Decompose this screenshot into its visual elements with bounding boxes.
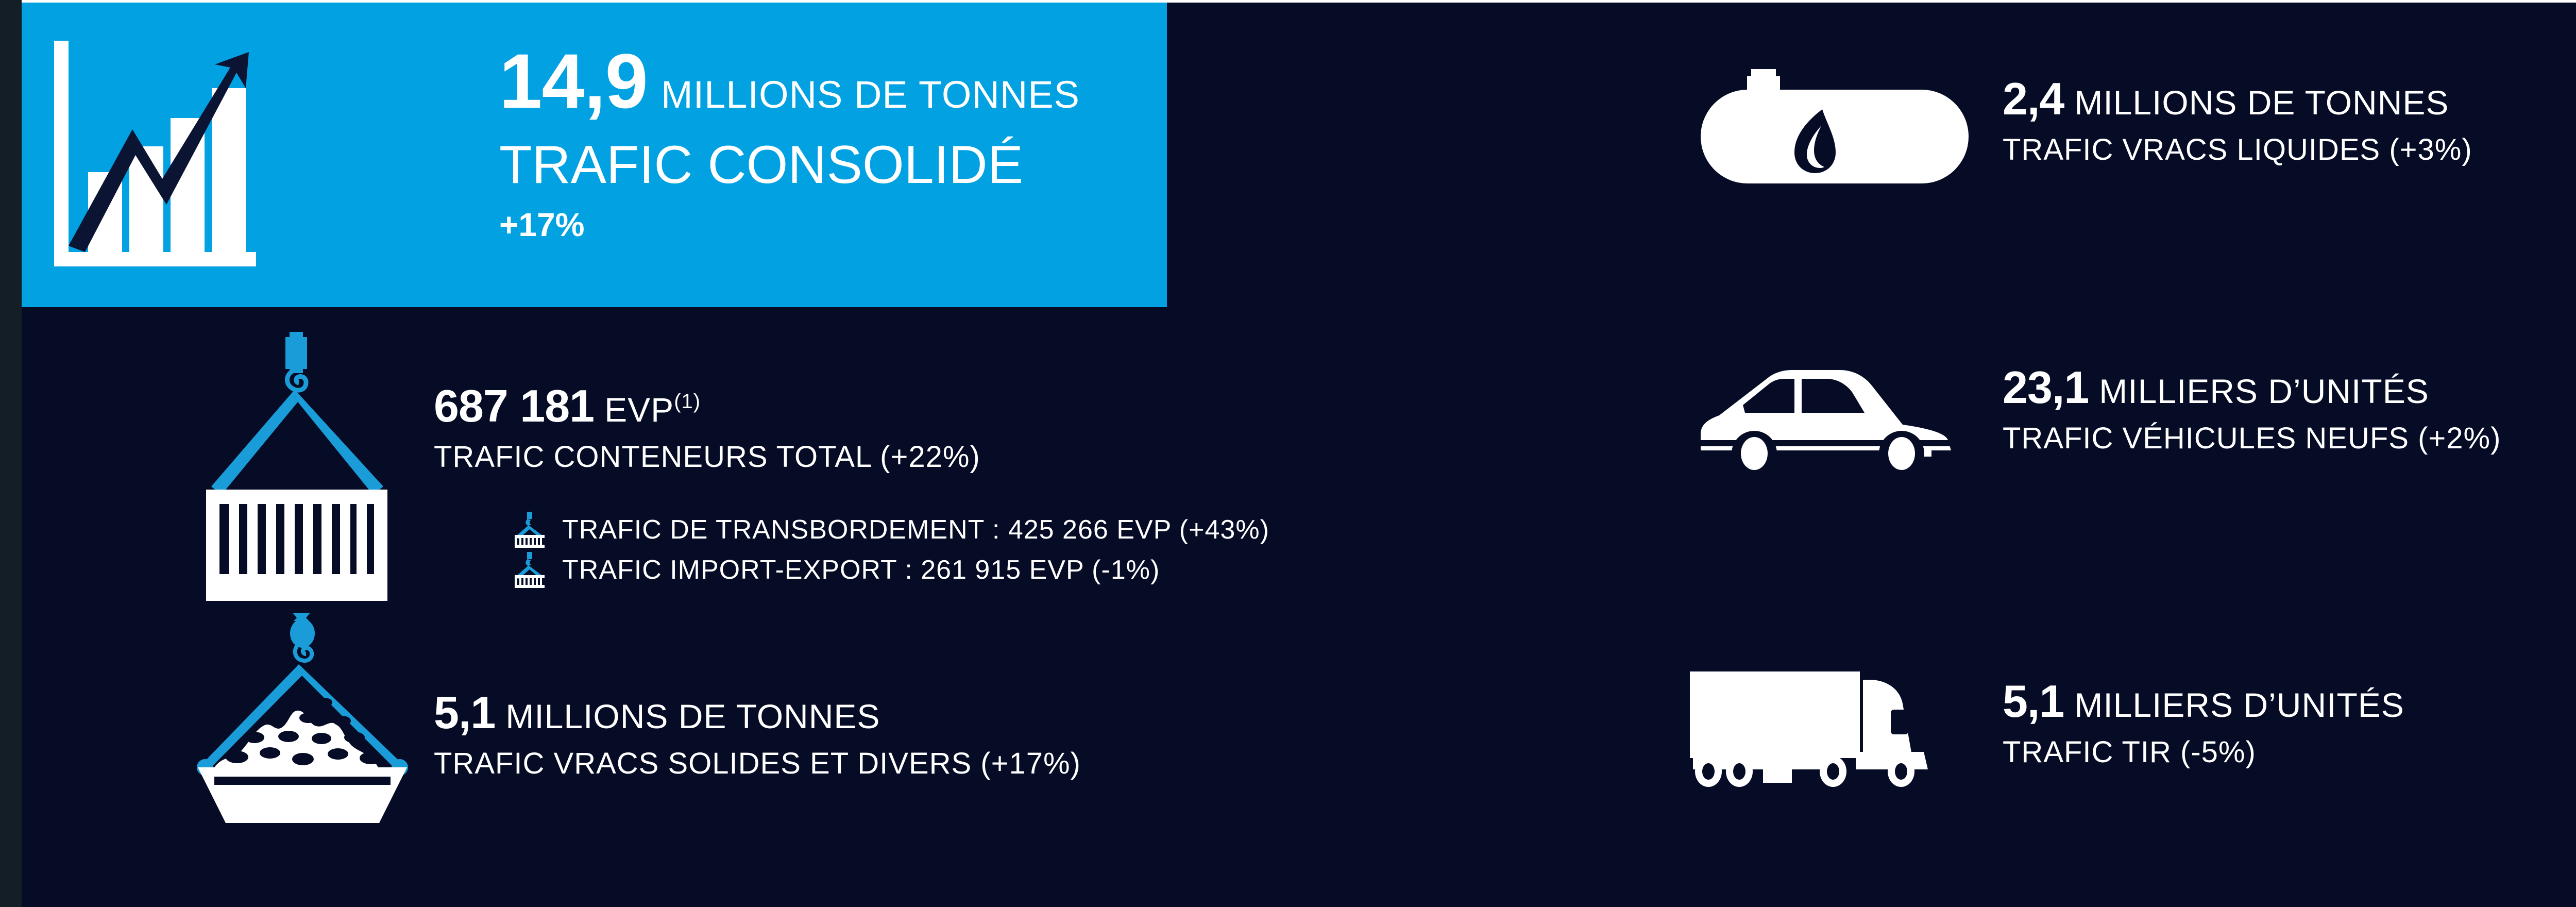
stat-new-vehicles-label: TRAFIC VÉHICULES NEUFS (+2%) <box>2003 424 2501 454</box>
hero-title: TRAFIC CONSOLIDÉ <box>499 138 1080 192</box>
stat-solid-bulk-text: 5,1 MILLIONS DE TONNES TRAFIC VRACS SOLI… <box>434 613 1081 779</box>
car-icon <box>1693 358 1982 476</box>
hero-unit: MILLIONS DE TONNES <box>661 76 1080 114</box>
stat-containers-label: TRAFIC CONTENEURS TOTAL (+22%) <box>434 442 980 472</box>
growth-bar-chart-icon <box>45 41 256 267</box>
stat-liquid-bulk-unit: MILLIONS DE TONNES <box>2074 86 2449 120</box>
shipping-container-crane-icon <box>192 332 413 605</box>
stat-containers-footnote-marker: (1) <box>674 391 701 412</box>
list-item-label: TRAFIC IMPORT-EXPORT : 261 915 EVP (-1%) <box>562 555 1160 585</box>
mini-container-icon <box>514 512 546 548</box>
stat-liquid-bulk-value: 2,4 <box>2003 76 2064 122</box>
stat-tir-value: 5,1 <box>2003 679 2064 724</box>
stat-solid-bulk-value: 5,1 <box>434 690 495 735</box>
list-item-label: TRAFIC DE TRANSBORDEMENT : 425 266 EVP (… <box>562 514 1269 545</box>
hero-growth: +17% <box>499 208 1080 241</box>
hero-tile-trafic-consolide: 14,9 MILLIONS DE TONNES TRAFIC CONSOLIDÉ… <box>22 2 1167 307</box>
stat-new-vehicles-text: 23,1 MILLIERS D’UNITÉS TRAFIC VÉHICULES … <box>2003 358 2501 454</box>
stat-tir-label: TRAFIC TIR (-5%) <box>2003 737 2404 767</box>
top-divider <box>22 0 2576 3</box>
traffic-infographic: 14,9 MILLIONS DE TONNES TRAFIC CONSOLIDÉ… <box>0 0 2576 907</box>
stat-solid-bulk-unit: MILLIONS DE TONNES <box>505 699 880 733</box>
infographic-canvas: 14,9 MILLIONS DE TONNES TRAFIC CONSOLIDÉ… <box>22 2 2576 907</box>
stat-new-vehicles: 23,1 MILLIERS D’UNITÉS TRAFIC VÉHICULES … <box>1693 358 2501 476</box>
stat-tir-unit: MILLIERS D’UNITÉS <box>2074 688 2404 722</box>
stat-new-vehicles-unit: MILLIERS D’UNITÉS <box>2099 374 2429 408</box>
liquid-tank-droplet-icon <box>1693 69 1982 188</box>
stat-liquid-bulk-label: TRAFIC VRACS LIQUIDES (+3%) <box>2003 135 2472 165</box>
stat-tir: 5,1 MILLIERS D’UNITÉS TRAFIC TIR (-5%) <box>1686 664 2404 788</box>
stat-liquid-bulk: 2,4 MILLIONS DE TONNES TRAFIC VRACS LIQU… <box>1693 69 2472 188</box>
stat-containers-value: 687 181 <box>434 383 594 429</box>
truck-icon <box>1686 664 1982 788</box>
hero-text-block: 14,9 MILLIONS DE TONNES TRAFIC CONSOLIDÉ… <box>499 42 1080 241</box>
container-breakdown-list: TRAFIC DE TRANSBORDEMENT : 425 266 EVP (… <box>514 510 1269 590</box>
stat-solid-bulk: 5,1 MILLIONS DE TONNES TRAFIC VRACS SOLI… <box>192 613 1081 824</box>
stat-containers-text: 687 181 EVP(1) TRAFIC CONTENEURS TOTAL (… <box>434 332 980 472</box>
stat-liquid-bulk-text: 2,4 MILLIONS DE TONNES TRAFIC VRACS LIQU… <box>2003 69 2472 165</box>
stat-containers-unit: EVP <box>604 393 674 427</box>
mini-container-icon <box>514 552 546 588</box>
stat-tir-text: 5,1 MILLIERS D’UNITÉS TRAFIC TIR (-5%) <box>2003 664 2404 767</box>
stat-solid-bulk-label: TRAFIC VRACS SOLIDES ET DIVERS (+17%) <box>434 749 1081 779</box>
list-item: TRAFIC IMPORT-EXPORT : 261 915 EVP (-1%) <box>514 550 1269 590</box>
list-item: TRAFIC DE TRANSBORDEMENT : 425 266 EVP (… <box>514 510 1269 550</box>
stat-new-vehicles-value: 23,1 <box>2003 365 2089 410</box>
bulk-cargo-bucket-icon <box>192 613 413 824</box>
hero-value: 14,9 <box>499 42 648 120</box>
